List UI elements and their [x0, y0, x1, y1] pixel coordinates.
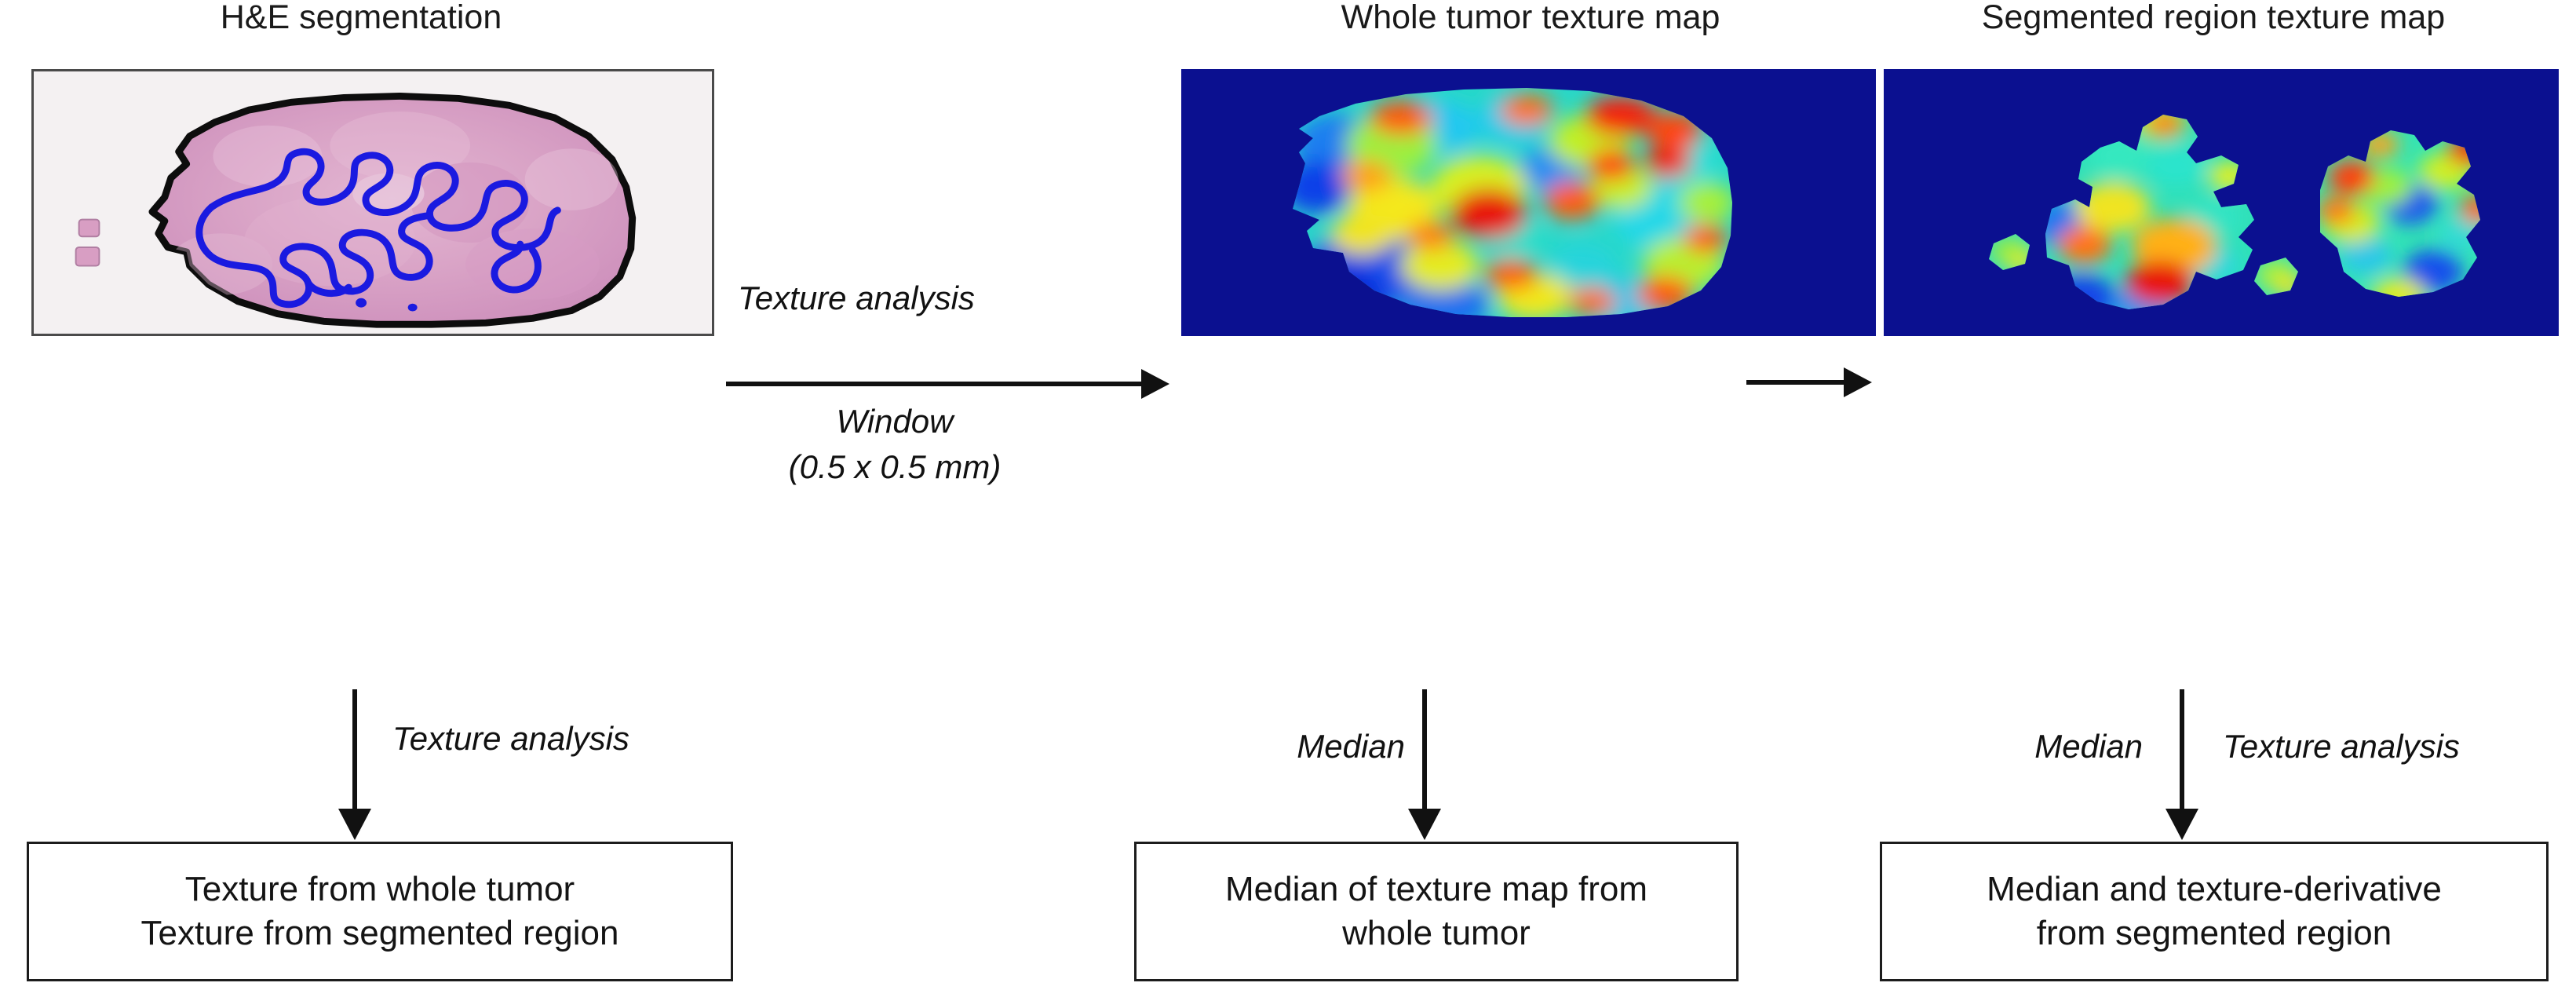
arrow-label-median-right: Median: [1931, 727, 2143, 766]
arrow-shaft: [1422, 689, 1427, 810]
arrow-label-texture-analysis-top: Texture analysis: [738, 279, 1146, 318]
result-box-middle: Median of texture map from whole tumor: [1134, 842, 1739, 981]
he-slide-svg: [34, 71, 712, 334]
arrow-head: [2166, 809, 2198, 840]
whole-tumor-texmap-svg: [1181, 69, 1876, 336]
arrow-head: [1844, 367, 1872, 397]
segmented-region-texmap-svg: [1884, 69, 2559, 336]
arrow-segmented-to-right-result: [2166, 689, 2198, 840]
arrow-head: [1141, 369, 1169, 399]
panel-title-whole-tumor-texture-map: Whole tumor texture map: [1138, 0, 1923, 35]
result-line: Median of texture map from: [1225, 868, 1647, 911]
panel-title-he-segmentation: H&E segmentation: [16, 0, 706, 35]
arrow-label-texture-analysis-right: Texture analysis: [2223, 727, 2560, 766]
arrow-whole-tumor-to-segmented: [1746, 367, 1872, 397]
arrow-label-window-size: (0.5 x 0.5 mm): [706, 448, 1083, 487]
arrow-shaft: [2180, 689, 2184, 810]
arrow-label-window: Window: [706, 402, 1083, 441]
arrow-label-median-middle: Median: [1201, 727, 1405, 766]
segmented-region-texture-map-image: [1884, 69, 2559, 336]
arrow-he-to-whole-tumor: [726, 369, 1169, 399]
result-line: Texture from segmented region: [141, 911, 619, 955]
arrow-shaft: [352, 689, 357, 810]
result-line: from segmented region: [2037, 911, 2392, 955]
figure-canvas: H&E segmentation Whole tumor texture map…: [0, 0, 2576, 1001]
result-line: Texture from whole tumor: [185, 868, 575, 911]
whole-tumor-texture-map-image: [1181, 69, 1876, 336]
arrow-shaft: [726, 382, 1143, 386]
arrow-whole-tumor-to-middle-result: [1409, 689, 1440, 840]
arrow-he-to-left-result: [339, 689, 370, 840]
result-box-left: Texture from whole tumor Texture from se…: [27, 842, 733, 981]
arrow-head: [338, 809, 371, 840]
result-line: whole tumor: [1342, 911, 1531, 955]
he-segmentation-image: [31, 69, 714, 336]
arrow-label-texture-analysis-left: Texture analysis: [392, 719, 801, 758]
panel-title-segmented-region-texture-map: Segmented region texture map: [1852, 0, 2574, 35]
result-box-right: Median and texture-derivative from segme…: [1880, 842, 2549, 981]
arrow-head: [1408, 809, 1441, 840]
result-line: Median and texture-derivative: [1987, 868, 2442, 911]
arrow-shaft: [1746, 380, 1845, 385]
